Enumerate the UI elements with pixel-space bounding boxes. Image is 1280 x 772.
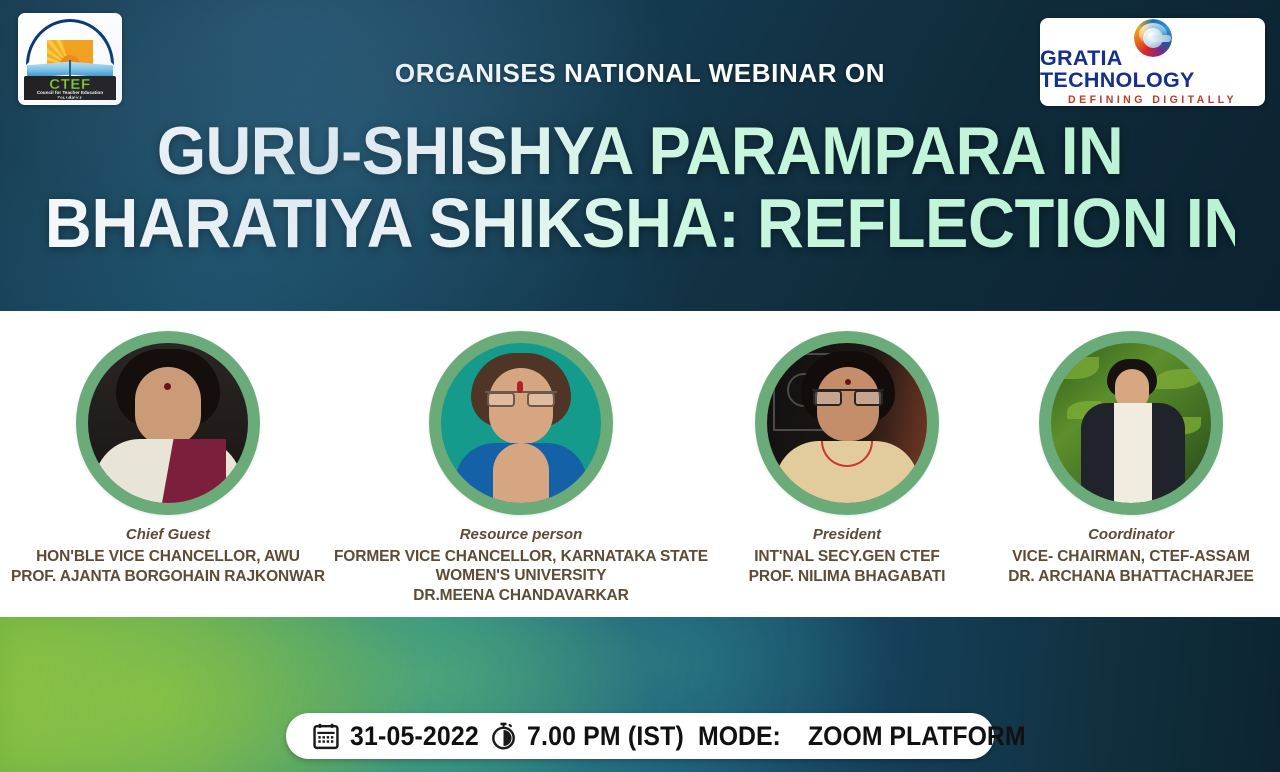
speaker-name: PROF. AJANTA BORGOHAIN RAJKONWAR <box>11 567 325 586</box>
event-date: 31-05-2022 <box>350 721 479 752</box>
speaker-designation: HON'BLE VICE CHANCELLOR, AWU <box>36 547 300 566</box>
ctef-tagline <box>20 17 120 61</box>
avatar <box>429 331 613 515</box>
event-time: 7.00 PM (IST) <box>527 721 684 752</box>
mode-group: MODE: ZOOM PLATFORM <box>698 721 1044 752</box>
title-line-1: GURU-SHISHYA PARAMPARA IN <box>45 118 1235 185</box>
webinar-poster: CTEF Council for Teacher Education Found… <box>0 0 1280 772</box>
speakers-band: Chief Guest HON'BLE VICE CHANCELLOR, AWU… <box>0 311 1280 617</box>
sunrise-icon <box>47 40 93 66</box>
mode-label: MODE: <box>698 721 781 752</box>
speaker-card: Resource person FORMER VICE CHANCELLOR, … <box>333 311 709 617</box>
page-title: GURU-SHISHYA PARAMPARA IN BHARATIYA SHIK… <box>0 118 1280 259</box>
speaker-name: DR.MEENA CHANDAVARKAR <box>333 586 709 605</box>
calendar-icon <box>312 722 340 750</box>
gratia-tagline: DEFINING DIGITALLY <box>1068 94 1237 106</box>
speaker-card: President INT'NAL SECY.GEN CTEF PROF. NI… <box>709 311 985 617</box>
eyebrow-text: ORGANISES NATIONAL WEBINAR ON <box>0 58 1280 89</box>
ctef-wordmark: CTEF <box>24 76 116 93</box>
ctef-full-name: Council for Teacher Education Foundation <box>24 90 116 100</box>
speaker-role: President <box>813 526 881 545</box>
speaker-name: DR. ARCHANA BHATTACHARJEE <box>1008 567 1254 586</box>
event-info-pill: 31-05-2022 7.00 PM (IST) MODE: ZOOM PLAT… <box>286 713 994 759</box>
ctef-established: ESTD. 1985 <box>20 95 120 101</box>
title-line-2: BHARATIYA SHIKSHA: REFLECTION IN NEP-202… <box>45 189 1235 258</box>
book-spine-icon <box>69 60 71 78</box>
speaker-role: Resource person <box>460 526 583 545</box>
time-group: 7.00 PM (IST) <box>490 721 698 752</box>
gratia-g-sphere-icon <box>1130 18 1176 46</box>
speaker-designation: VICE- CHAIRMAN, CTEF-ASSAM <box>1012 547 1250 566</box>
sun-core-icon <box>60 55 80 65</box>
speaker-card: Chief Guest HON'BLE VICE CHANCELLOR, AWU… <box>3 311 333 617</box>
stopwatch-icon <box>490 722 517 750</box>
speaker-designation: INT'NAL SECY.GEN CTEF <box>754 547 940 566</box>
speaker-name: PROF. NILIMA BHAGABATI <box>749 567 946 586</box>
date-group: 31-05-2022 <box>312 721 490 752</box>
speaker-role: Coordinator <box>1088 526 1174 545</box>
ctef-arc-icon <box>26 19 114 65</box>
speaker-role: Chief Guest <box>126 526 210 545</box>
avatar <box>76 331 260 515</box>
mode-value: ZOOM PLATFORM <box>808 721 1026 752</box>
avatar <box>755 331 939 515</box>
ctef-logo: CTEF Council for Teacher Education Found… <box>18 13 122 105</box>
avatar <box>1039 331 1223 515</box>
speaker-card: Coordinator VICE- CHAIRMAN, CTEF-ASSAM D… <box>985 311 1277 617</box>
open-book-icon <box>27 60 113 78</box>
speaker-designation: FORMER VICE CHANCELLOR, KARNATAKA STATE … <box>333 547 709 585</box>
header-band: CTEF Council for Teacher Education Found… <box>0 0 1280 311</box>
